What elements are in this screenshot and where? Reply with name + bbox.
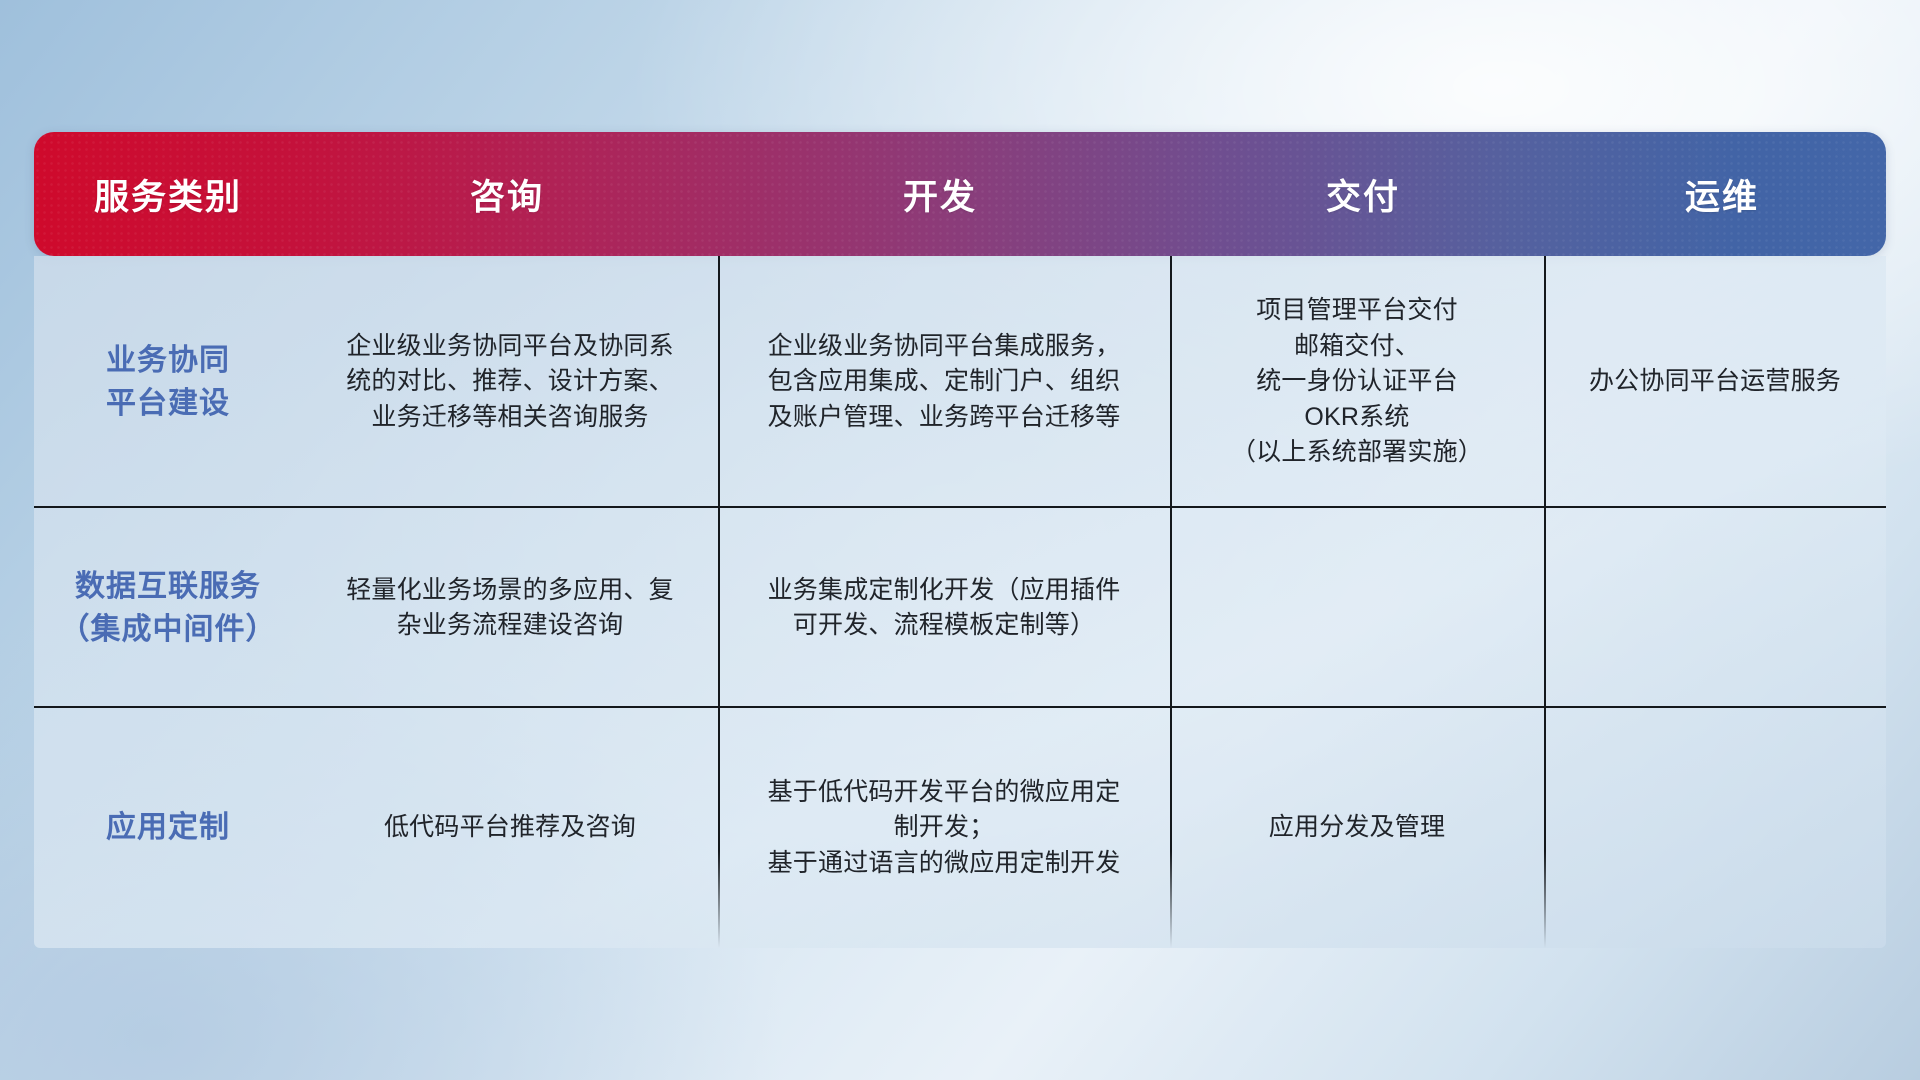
cell-text: 办公协同平台运营服务 bbox=[1589, 364, 1841, 400]
row-category-cell: 应用定制 bbox=[34, 708, 302, 948]
row-category-label: 应用定制 bbox=[106, 806, 230, 850]
column-header-label: 交付 bbox=[1326, 178, 1400, 217]
row-category-label: 业务协同 平台建设 bbox=[106, 339, 230, 426]
cell-development: 基于低代码开发平台的微应用定 制开发； 基于通过语言的微应用定制开发 bbox=[718, 708, 1170, 948]
column-header-label: 服务类别 bbox=[94, 178, 242, 217]
cell-development: 企业级业务协同平台集成服务， 包含应用集成、定制门户、组织 及账户管理、业务跨平… bbox=[718, 256, 1170, 508]
column-header-service-category: 服务类别 bbox=[34, 169, 302, 220]
column-header-development: 开发 bbox=[712, 169, 1168, 220]
cell-operations: 办公协同平台运营服务 bbox=[1544, 256, 1886, 508]
cell-text: 基于低代码开发平台的微应用定 制开发； 基于通过语言的微应用定制开发 bbox=[768, 775, 1121, 882]
service-matrix-table: 服务类别 咨询 开发 交付 运维 业务协同 平台建设 企业级业务协同平台及协同系… bbox=[34, 132, 1886, 948]
column-header-label: 开发 bbox=[903, 178, 977, 217]
cell-text: 业务集成定制化开发（应用插件 可开发、流程模板定制等） bbox=[768, 573, 1121, 644]
table-body: 业务协同 平台建设 企业级业务协同平台及协同系 统的对比、推荐、设计方案、 业务… bbox=[34, 256, 1886, 948]
table-header-row: 服务类别 咨询 开发 交付 运维 bbox=[34, 132, 1886, 256]
cell-text: 项目管理平台交付 邮箱交付、 统一身份认证平台 OKR系统 （以上系统部署实施） bbox=[1231, 293, 1483, 471]
table-row: 业务协同 平台建设 企业级业务协同平台及协同系 统的对比、推荐、设计方案、 业务… bbox=[34, 256, 1886, 508]
column-header-label: 咨询 bbox=[470, 178, 544, 217]
cell-development: 业务集成定制化开发（应用插件 可开发、流程模板定制等） bbox=[718, 508, 1170, 708]
row-category-cell: 业务协同 平台建设 bbox=[34, 256, 302, 508]
row-category-label: 数据互联服务 （集成中间件） bbox=[60, 565, 277, 652]
column-header-label: 运维 bbox=[1685, 178, 1759, 217]
cell-consulting: 低代码平台推荐及咨询 bbox=[302, 708, 718, 948]
cell-text: 轻量化业务场景的多应用、复 杂业务流程建设咨询 bbox=[346, 573, 674, 644]
column-header-delivery: 交付 bbox=[1168, 169, 1558, 220]
column-header-consulting: 咨询 bbox=[302, 169, 712, 220]
cell-consulting: 企业级业务协同平台及协同系 统的对比、推荐、设计方案、 业务迁移等相关咨询服务 bbox=[302, 256, 718, 508]
cell-delivery: 应用分发及管理 bbox=[1170, 708, 1544, 948]
table-row: 数据互联服务 （集成中间件） 轻量化业务场景的多应用、复 杂业务流程建设咨询 业… bbox=[34, 508, 1886, 708]
cell-text: 企业级业务协同平台及协同系 统的对比、推荐、设计方案、 业务迁移等相关咨询服务 bbox=[346, 329, 674, 436]
cell-text: 企业级业务协同平台集成服务， 包含应用集成、定制门户、组织 及账户管理、业务跨平… bbox=[768, 329, 1121, 436]
cell-text: 低代码平台推荐及咨询 bbox=[384, 810, 636, 846]
cell-text: 应用分发及管理 bbox=[1269, 810, 1445, 846]
cell-operations bbox=[1544, 708, 1886, 948]
column-header-operations: 运维 bbox=[1558, 169, 1886, 220]
cell-consulting: 轻量化业务场景的多应用、复 杂业务流程建设咨询 bbox=[302, 508, 718, 708]
table-row: 应用定制 低代码平台推荐及咨询 基于低代码开发平台的微应用定 制开发； 基于通过… bbox=[34, 708, 1886, 948]
cell-operations bbox=[1544, 508, 1886, 708]
cell-delivery: 项目管理平台交付 邮箱交付、 统一身份认证平台 OKR系统 （以上系统部署实施） bbox=[1170, 256, 1544, 508]
row-category-cell: 数据互联服务 （集成中间件） bbox=[34, 508, 302, 708]
cell-delivery bbox=[1170, 508, 1544, 708]
